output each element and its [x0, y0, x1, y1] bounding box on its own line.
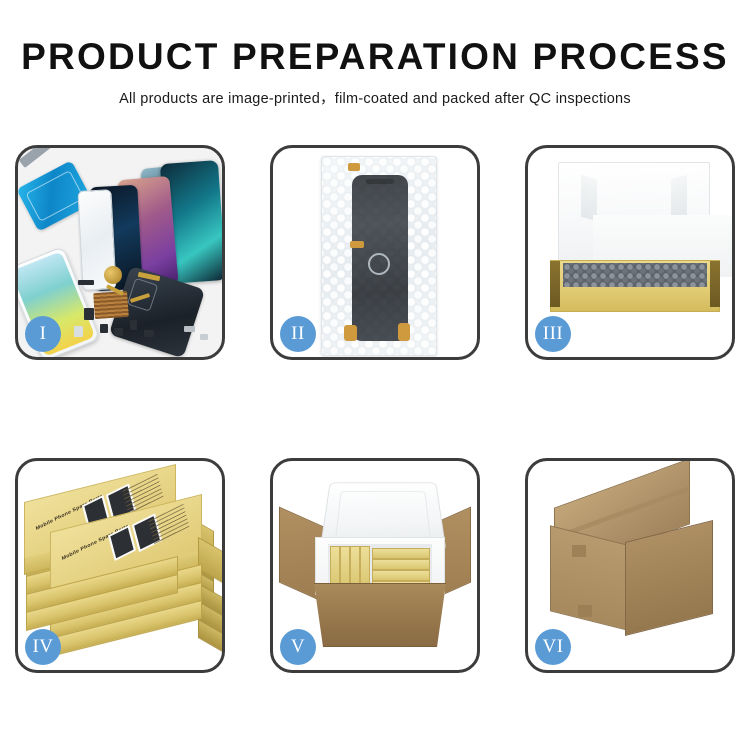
carton-tape-patch: [572, 545, 586, 557]
box-lid-white: [558, 162, 710, 272]
page-title: PRODUCT PREPARATION PROCESS: [0, 38, 750, 77]
bubble-wrap-sleeve: [321, 156, 437, 356]
component-chip: [78, 280, 94, 285]
carton-body: [305, 583, 455, 647]
process-step-panel-4: Mobile Phone Spare Parts Mobile Phone Sp…: [15, 458, 225, 673]
packed-box: [372, 559, 430, 570]
gray-foam-insert: [563, 263, 707, 287]
flex-cable: [348, 163, 360, 171]
packed-box: [372, 570, 430, 581]
flex-cable: [398, 323, 410, 341]
packed-box: [350, 546, 360, 588]
carton-tape-patch: [578, 605, 592, 617]
component-chip: [84, 308, 94, 320]
process-step-panel-1: I: [15, 145, 225, 360]
step-badge-6: VI: [535, 629, 571, 665]
foam-cavity: [328, 544, 432, 586]
process-step-panel-2: II: [270, 145, 480, 360]
camera-ring: [368, 253, 390, 275]
flex-cable: [350, 241, 364, 248]
packed-box: [340, 546, 350, 588]
step-badge-3: III: [535, 316, 571, 352]
packed-box: [330, 546, 340, 588]
component-chip: [144, 330, 154, 337]
product-preparation-infographic: PRODUCT PREPARATION PROCESS All products…: [0, 0, 750, 750]
step-badge-1: I: [25, 316, 61, 352]
component-chip: [100, 324, 108, 333]
packed-box: [372, 548, 430, 559]
component-chip: [74, 326, 83, 337]
tray-edge-right: [710, 261, 720, 307]
pry-tool: [19, 145, 54, 168]
step-badge-4: IV: [25, 629, 61, 665]
tray-edge-left: [550, 261, 560, 307]
yellow-box-tray: [550, 260, 720, 312]
header: PRODUCT PREPARATION PROCESS All products…: [0, 38, 750, 108]
step-badge-2: II: [280, 316, 316, 352]
process-step-panel-5: V: [270, 458, 480, 673]
process-step-panel-6: VI: [525, 458, 735, 673]
packed-box: [360, 546, 370, 588]
component-chip: [200, 334, 208, 340]
speaker-module: [104, 266, 122, 284]
component-chip: [184, 326, 195, 332]
label-spec-lines: [148, 504, 189, 545]
flex-cable: [344, 325, 357, 341]
step-badge-5: V: [280, 629, 316, 665]
component-chip: [114, 328, 123, 336]
component-chip: [130, 320, 137, 330]
logic-board: [93, 291, 129, 319]
page-subtitle: All products are image-printed，film-coat…: [0, 87, 750, 108]
process-step-grid: I II: [15, 145, 735, 673]
process-step-panel-3: III: [525, 145, 735, 360]
